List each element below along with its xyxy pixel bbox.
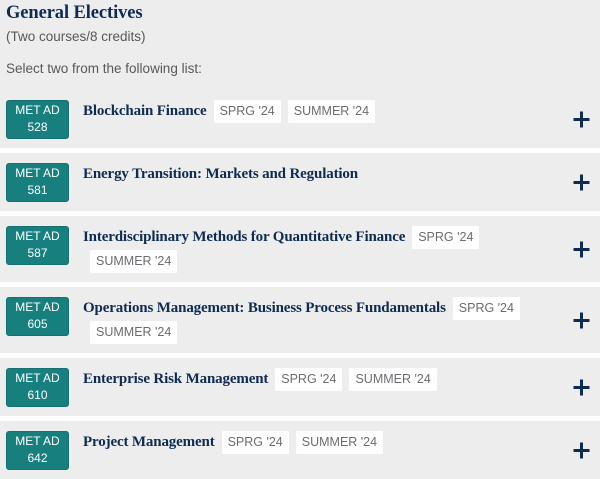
course-code-number: 581: [7, 182, 68, 199]
plus-icon: [573, 312, 590, 329]
course-details: Interdisciplinary Methods for Quantitati…: [69, 225, 594, 273]
course-code-badge: MET AD610: [6, 368, 69, 407]
course-row[interactable]: MET AD642Project ManagementSPRG '24SUMME…: [0, 421, 600, 479]
page-title: General Electives: [6, 0, 594, 28]
course-title-and-terms: Enterprise Risk ManagementSPRG '24SUMMER…: [83, 367, 560, 391]
term-tag: SUMMER '24: [349, 368, 436, 391]
course-code-badge: MET AD528: [6, 100, 69, 139]
term-tag: SPRG '24: [275, 368, 342, 391]
course-code-number: 587: [7, 245, 68, 262]
plus-icon: [573, 379, 590, 396]
course-details: Enterprise Risk ManagementSPRG '24SUMMER…: [69, 367, 594, 391]
course-code-prefix: MET AD: [7, 228, 68, 245]
course-code-prefix: MET AD: [7, 165, 68, 182]
section-instruction: Select two from the following list:: [6, 60, 594, 90]
course-row[interactable]: MET AD528Blockchain FinanceSPRG '24SUMME…: [0, 90, 600, 148]
section-credits-note: (Two courses/8 credits): [6, 28, 594, 60]
course-code-number: 610: [7, 387, 68, 404]
term-tag: SUMMER '24: [90, 321, 177, 344]
course-row[interactable]: MET AD610Enterprise Risk ManagementSPRG …: [0, 358, 600, 416]
course-title: Blockchain Finance: [83, 103, 207, 119]
course-details: Project ManagementSPRG '24SUMMER '24: [69, 430, 594, 454]
term-tag: SPRG '24: [214, 100, 281, 123]
course-code-badge: MET AD605: [6, 297, 69, 336]
course-code-badge: MET AD581: [6, 163, 69, 202]
plus-icon: [573, 241, 590, 258]
course-title-and-terms: Project ManagementSPRG '24SUMMER '24: [83, 430, 560, 454]
course-code-prefix: MET AD: [7, 299, 68, 316]
course-title: Energy Transition: Markets and Regulatio…: [83, 166, 358, 182]
course-details: Blockchain FinanceSPRG '24SUMMER '24: [69, 99, 594, 123]
plus-icon: [573, 111, 590, 128]
course-title-and-terms: Operations Management: Business Process …: [83, 296, 560, 344]
course-title-and-terms: Energy Transition: Markets and Regulatio…: [83, 162, 560, 186]
expand-course-button[interactable]: [570, 171, 592, 193]
term-tag: SPRG '24: [222, 431, 289, 454]
course-row[interactable]: MET AD605Operations Management: Business…: [0, 287, 600, 353]
course-code-prefix: MET AD: [7, 370, 68, 387]
expand-course-button[interactable]: [570, 376, 592, 398]
course-row[interactable]: MET AD587Interdisciplinary Methods for Q…: [0, 216, 600, 282]
plus-icon: [573, 442, 590, 459]
plus-icon: [573, 174, 590, 191]
course-title: Project Management: [83, 434, 215, 450]
course-code-number: 605: [7, 316, 68, 333]
general-electives-panel: General Electives (Two courses/8 credits…: [0, 0, 600, 459]
course-title: Interdisciplinary Methods for Quantitati…: [83, 229, 405, 245]
term-tag: SUMMER '24: [90, 250, 177, 273]
expand-course-button[interactable]: [570, 309, 592, 331]
course-code-badge: MET AD587: [6, 226, 69, 265]
course-row[interactable]: MET AD581Energy Transition: Markets and …: [0, 153, 600, 211]
term-tag: SPRG '24: [412, 226, 479, 249]
term-tag: SUMMER '24: [296, 431, 383, 454]
course-details: Energy Transition: Markets and Regulatio…: [69, 162, 594, 186]
expand-course-button[interactable]: [570, 238, 592, 260]
course-title-and-terms: Blockchain FinanceSPRG '24SUMMER '24: [83, 99, 560, 123]
course-details: Operations Management: Business Process …: [69, 296, 594, 344]
course-title-and-terms: Interdisciplinary Methods for Quantitati…: [83, 225, 560, 273]
expand-course-button[interactable]: [570, 108, 592, 130]
course-title: Enterprise Risk Management: [83, 371, 268, 387]
expand-course-button[interactable]: [570, 439, 592, 461]
course-code-prefix: MET AD: [7, 433, 68, 450]
term-tag: SUMMER '24: [288, 100, 375, 123]
course-list: MET AD528Blockchain FinanceSPRG '24SUMME…: [0, 90, 600, 479]
course-code-badge: MET AD642: [6, 431, 69, 470]
course-title: Operations Management: Business Process …: [83, 300, 446, 316]
term-tag: SPRG '24: [453, 297, 520, 320]
section-header: General Electives (Two courses/8 credits…: [0, 0, 600, 90]
course-code-number: 528: [7, 119, 68, 136]
course-code-prefix: MET AD: [7, 102, 68, 119]
